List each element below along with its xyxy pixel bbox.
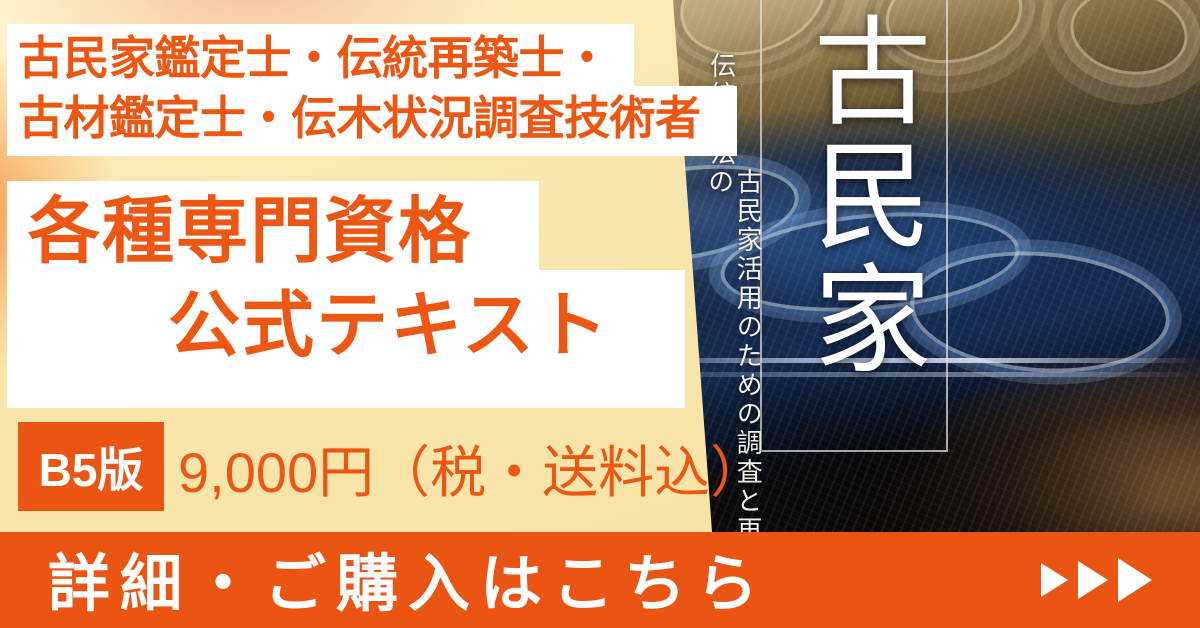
cta-bar[interactable]: 詳細・ご購入はこちら <box>0 532 1200 628</box>
headline-line-2: 古材鑑定士・伝木状況調査技術者 <box>18 88 718 148</box>
headline: 古民家鑑定士・伝統再築士・ 古材鑑定士・伝木状況調査技術者 <box>18 28 718 149</box>
cover-subtitle-main: 古民家活用のための調査と再生の <box>704 168 761 588</box>
play-triangle-icon <box>1041 563 1068 597</box>
cover-title-text: 古民家 <box>776 10 936 382</box>
size-badge: B5版 <box>18 422 164 511</box>
play-triangle-icon <box>1078 561 1108 599</box>
cta-label: 詳細・ご購入はこちら <box>48 533 768 623</box>
subheadline-line-2: 公式テキスト <box>20 280 680 374</box>
play-triangle-icon <box>1118 558 1152 602</box>
headline-line-1: 古民家鑑定士・伝統再築士・ <box>18 28 718 88</box>
price-text: 9,000円（税・送料込） <box>178 428 766 509</box>
subheadline-line-1: 各種専門資格 <box>20 186 680 280</box>
cta-arrows <box>1041 558 1152 602</box>
subheadline: 各種専門資格 公式テキスト <box>20 186 680 373</box>
promo-banner: 古民家 伝統構法 古民家活用のための調査と再生の 古民家鑑定士・伝統再築士・ 古… <box>0 0 1200 628</box>
